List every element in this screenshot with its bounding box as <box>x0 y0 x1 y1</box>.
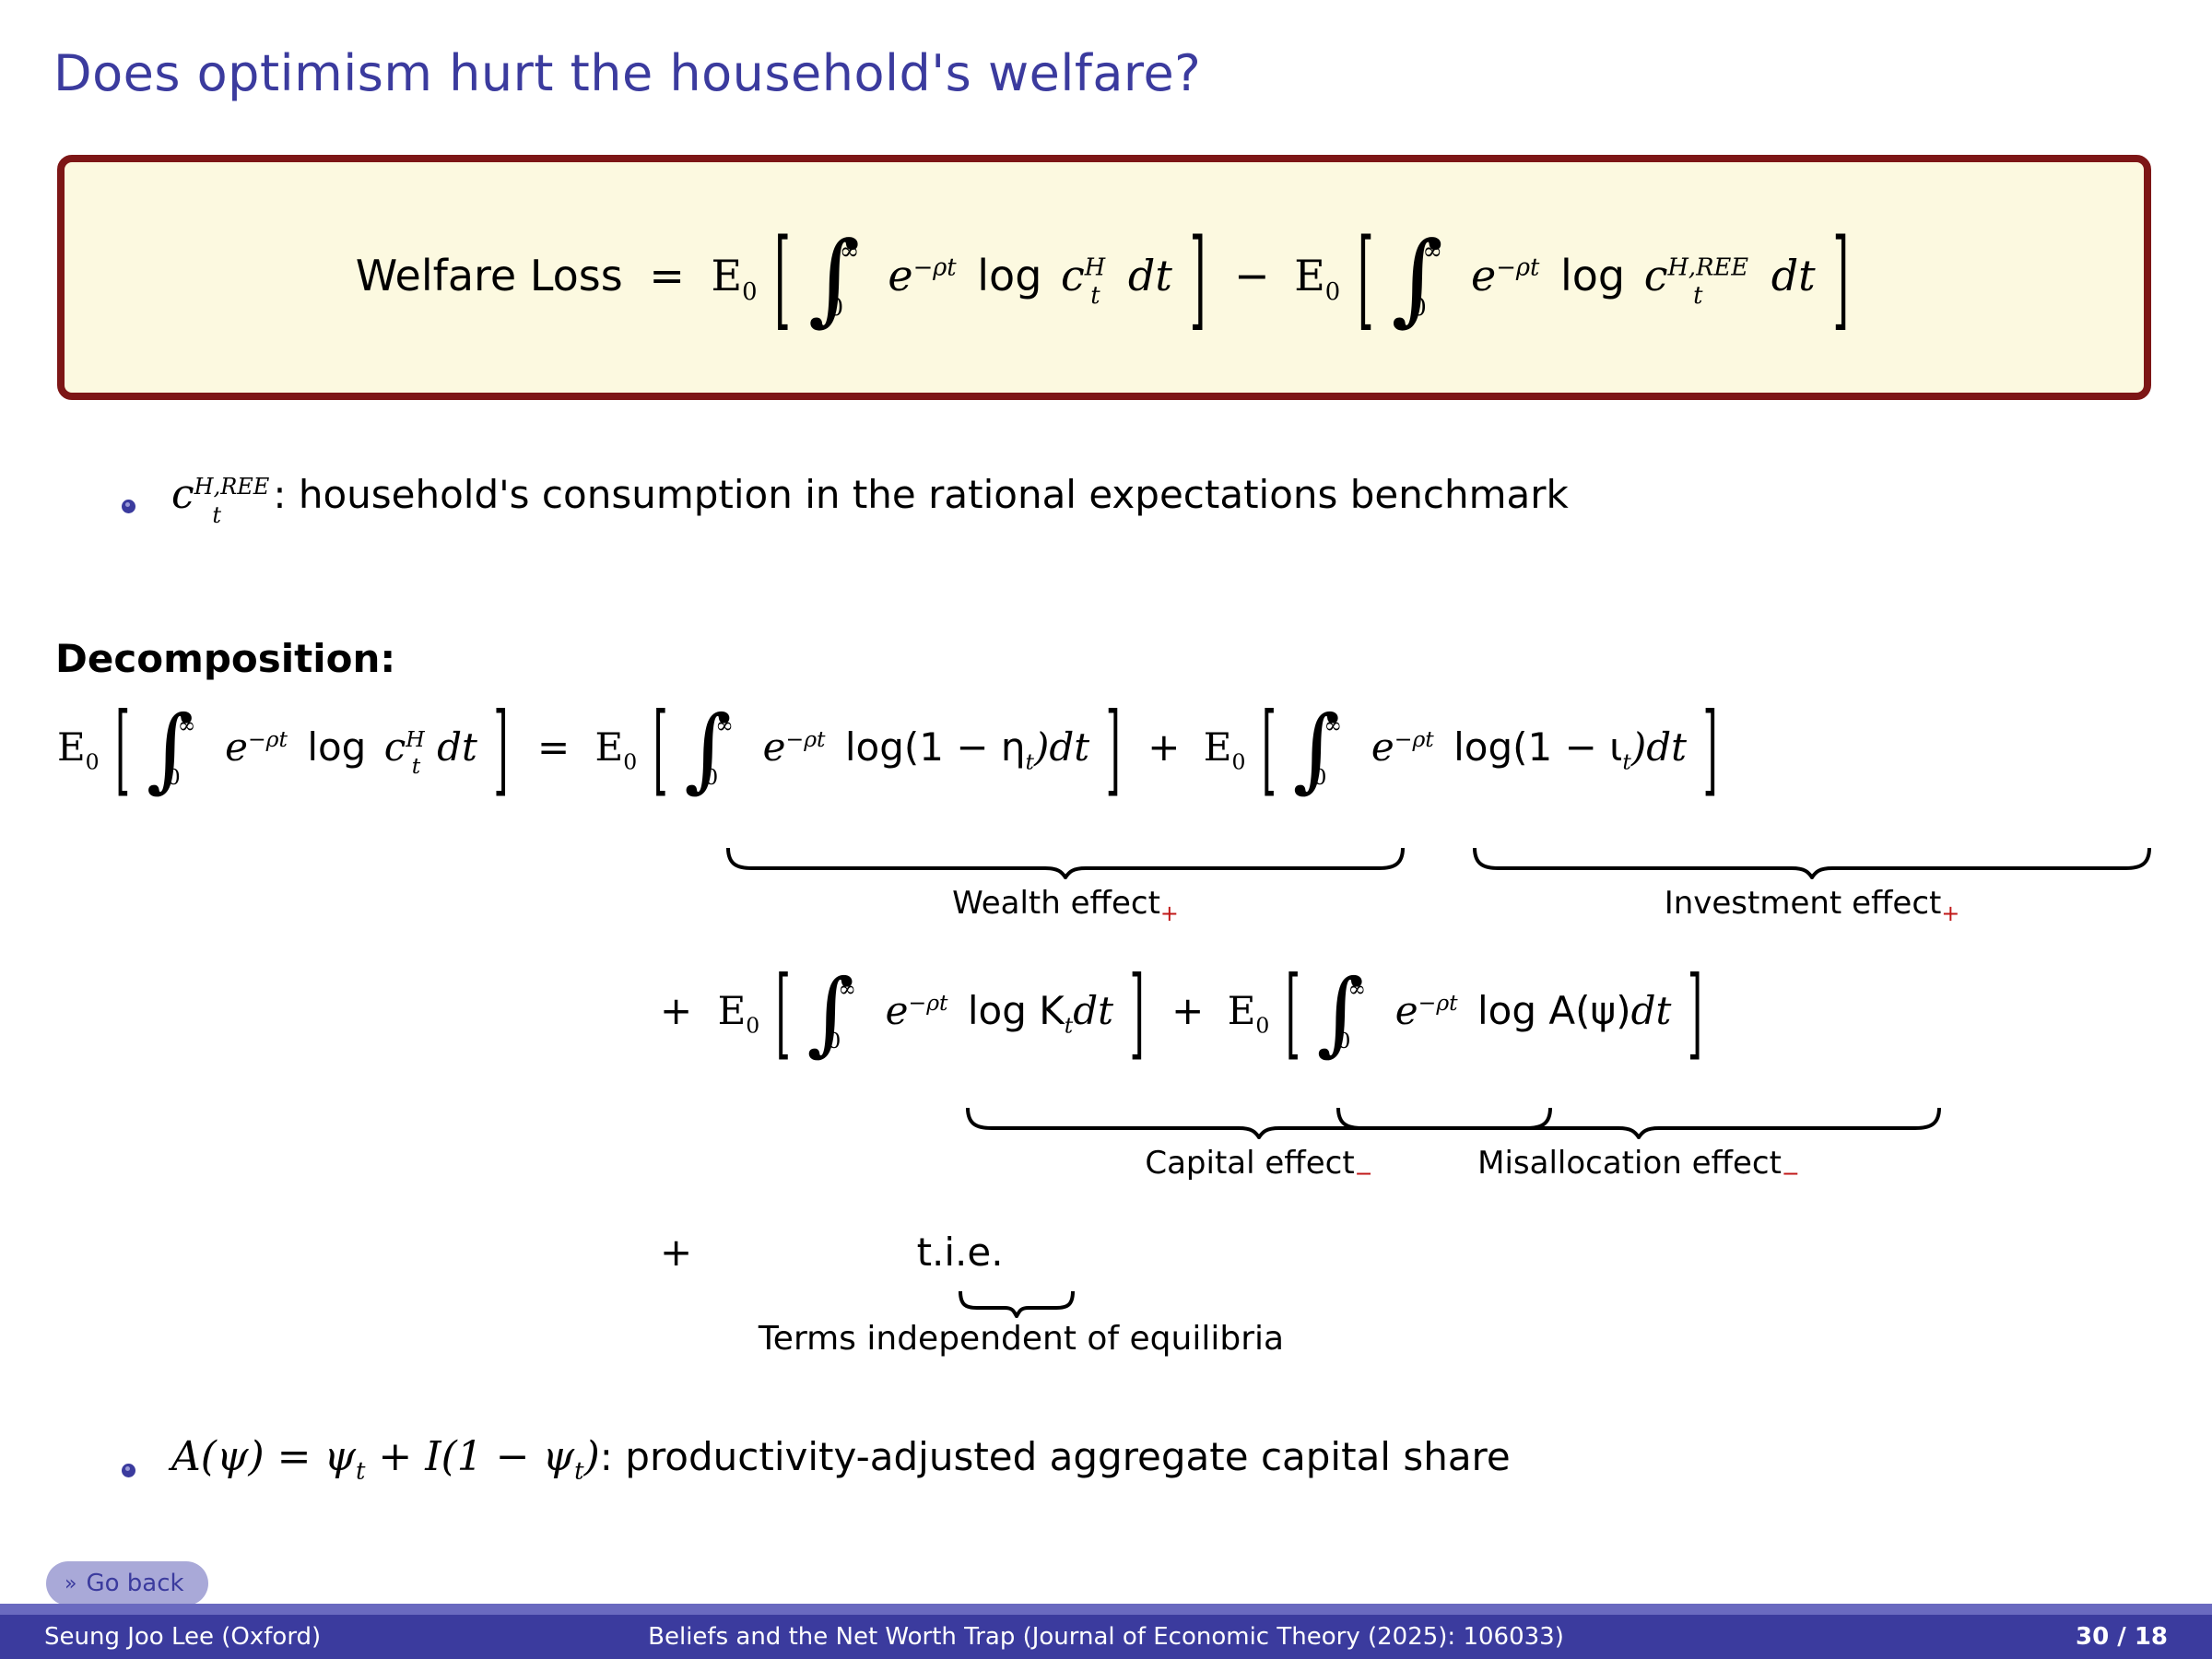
wealth-exp: −ρt <box>786 726 826 752</box>
misallocation-effect-brace <box>1335 1104 1943 1139</box>
decomp-bracket-close-lhs: ] <box>493 700 508 799</box>
go-back-label: Go back <box>86 1570 183 1597</box>
bullet-1: cH,REEt: household's consumption in the … <box>171 472 1569 517</box>
capital-expect-sub: 0 <box>746 1012 759 1038</box>
log-2: log <box>1560 251 1625 300</box>
misallocation-effect-label: Misallocation effect− <box>1335 1145 1943 1182</box>
investment-effect-label: Investment effect+ <box>1471 885 2153 922</box>
wealth-body: log(1 − η <box>845 724 1026 770</box>
investment-bracket-close: ] <box>1702 700 1717 799</box>
decomposition-row-2: + E0 [ ∫ ∞ 0 e−ρt log Ktdt ] + E0 [ ∫ ∞ … <box>660 992 1706 1033</box>
go-back-button[interactable]: » Go back <box>46 1561 208 1606</box>
investment-body-end: )dt <box>1631 724 1687 770</box>
footer-bar: Seung Joo Lee (Oxford) Beliefs and the N… <box>0 1615 2212 1659</box>
decomp-integral-lhs: ∫ ∞ 0 <box>147 731 213 770</box>
c-var-2: c <box>1644 251 1668 300</box>
wealth-effect-label: Wealth effect+ <box>724 885 1406 922</box>
investment-e: e <box>1371 724 1394 770</box>
misallocation-body: log A(ψ) <box>1477 988 1631 1033</box>
slide-root: Does optimism hurt the household's welfa… <box>0 0 2212 1659</box>
wealth-body-sub: t <box>1026 748 1034 774</box>
decomp-plus-4: + <box>660 1230 692 1275</box>
page-current: 30 <box>2076 1623 2109 1651</box>
misallocation-int-lower: 0 <box>1336 1030 1350 1053</box>
integral-upper-1: ∞ <box>840 241 859 265</box>
misallocation-expect-sub: 0 <box>1255 1012 1269 1038</box>
bracket-close-1: ] <box>1189 224 1206 332</box>
bullet-2-text: : productivity-adjusted aggregate capita… <box>600 1434 1511 1479</box>
investment-body-sub: t <box>1622 748 1630 774</box>
integrand-exp-2: −ρt <box>1496 254 1539 282</box>
misallocation-e: e <box>1395 988 1418 1033</box>
investment-body: log(1 − ι <box>1453 724 1622 770</box>
bracket-open-1: [ <box>774 224 791 332</box>
decomp-e-lhs: e <box>225 724 248 770</box>
footer-page-number: 30 / 18 <box>2076 1623 2168 1651</box>
investment-expect-sub: 0 <box>1231 748 1245 774</box>
capital-body-sub: t <box>1065 1012 1073 1038</box>
decomp-equals: = <box>537 724 570 770</box>
wealth-effect-sign: + <box>1160 900 1179 926</box>
minus-sign: − <box>1234 251 1270 300</box>
bracket-close-2: ] <box>1832 224 1849 332</box>
decomp-plus-1: + <box>1147 724 1180 770</box>
investment-effect-brace <box>1471 844 2153 879</box>
integral-lower-1: 0 <box>829 297 843 321</box>
investment-int-upper: ∞ <box>1324 715 1343 737</box>
welfare-loss-equals: = <box>649 251 685 300</box>
wealth-e: e <box>763 724 786 770</box>
wealth-effect-brace <box>724 844 1406 879</box>
misallocation-effect-sign: − <box>1782 1160 1800 1186</box>
bullet-2: A(ψ) = ψt + I(1 − ψt): productivity-adju… <box>171 1434 1511 1479</box>
footer-author: Seung Joo Lee (Oxford) <box>44 1623 321 1651</box>
welfare-loss-box: Welfare Loss = E0 [ ∫ ∞ 0 e−ρt log cHt d… <box>57 155 2151 400</box>
capital-body: log K <box>968 988 1065 1033</box>
bullet-icon-1 <box>122 500 135 513</box>
c-var-1: c <box>1061 251 1085 300</box>
misallocation-body-end: dt <box>1631 988 1672 1033</box>
investment-expect: E <box>1204 724 1232 770</box>
expect-sub-1: 0 <box>742 278 757 306</box>
investment-effect-sign: + <box>1941 900 1959 926</box>
expect-sub-2: 0 <box>1325 278 1340 306</box>
wealth-expect: E <box>595 724 624 770</box>
footer-paper-title: Beliefs and the Net Worth Trap (Journal … <box>648 1623 1564 1651</box>
log-1: log <box>977 251 1041 300</box>
c-sup-1: H <box>1085 254 1105 282</box>
integral-2: ∫ ∞ 0 <box>1391 258 1457 300</box>
decomp-c-sup-lhs: H <box>406 726 425 752</box>
capital-body-end: dt <box>1073 988 1113 1033</box>
expect-operator-2: E <box>1294 251 1325 300</box>
double-arrow-icon: » <box>65 1572 76 1595</box>
investment-exp: −ρt <box>1394 726 1434 752</box>
bullet-1-text: : household's consumption in the rationa… <box>273 472 1569 517</box>
decomp-c-lhs: c <box>384 724 406 770</box>
page-separator: / <box>2117 1623 2126 1651</box>
decomp-int-upper-lhs: ∞ <box>178 715 196 737</box>
integrand-e-1: e <box>888 251 912 300</box>
capital-integral: ∫ ∞ 0 <box>806 994 873 1033</box>
capital-bracket-close: ] <box>1129 964 1144 1063</box>
bullet-1-sup: H,REE <box>194 474 270 500</box>
capital-e: e <box>886 988 909 1033</box>
capital-int-lower: 0 <box>827 1030 841 1053</box>
capital-expect: E <box>718 988 747 1033</box>
investment-bracket-open: [ <box>1262 700 1277 799</box>
wealth-body-end: )dt <box>1034 724 1089 770</box>
decomp-plus-3: + <box>1171 988 1204 1033</box>
bullet-icon-2 <box>122 1464 135 1477</box>
page-title: Does optimism hurt the household's welfa… <box>53 44 1201 102</box>
tie-term: t.i.e. <box>917 1230 1004 1275</box>
wealth-expect-sub: 0 <box>623 748 637 774</box>
investment-integral: ∫ ∞ 0 <box>1293 731 1359 770</box>
capital-int-upper: ∞ <box>838 979 856 1001</box>
wealth-integral: ∫ ∞ 0 <box>684 731 750 770</box>
decomp-expect-lhs-sub: 0 <box>86 748 100 774</box>
decomp-log-lhs: log <box>307 724 366 770</box>
bullet-2-formula-mid: + I(1 − ψ <box>365 1433 574 1480</box>
bullet-1-symbol: c <box>171 471 194 518</box>
wealth-int-lower: 0 <box>704 767 718 789</box>
integral-lower-2: 0 <box>1411 297 1426 321</box>
decomposition-heading: Decomposition: <box>55 636 395 681</box>
welfare-loss-lhs: Welfare Loss <box>356 251 623 300</box>
c-sup-2: H,REE <box>1667 254 1748 282</box>
tie-label: Terms independent of equilibria <box>717 1320 1325 1358</box>
bullet-2-sub-2: t <box>574 1457 583 1485</box>
decomp-dt-lhs: dt <box>437 724 477 770</box>
wealth-bracket-close: ] <box>1105 700 1120 799</box>
capital-exp: −ρt <box>909 990 948 1016</box>
page-total: 18 <box>2135 1623 2168 1651</box>
decomp-exp-lhs: −ρt <box>248 726 288 752</box>
misallocation-integral: ∫ ∞ 0 <box>1316 994 1382 1033</box>
decomposition-row-1: E0 [ ∫ ∞ 0 e−ρt log cHt dt ] = E0 [ ∫ ∞ … <box>57 728 1722 770</box>
decomp-expect-lhs: E <box>57 724 86 770</box>
bullet-2-sub-1: t <box>356 1457 365 1485</box>
footer-accent-strip <box>0 1604 2212 1615</box>
misallocation-int-upper: ∞ <box>1347 979 1366 1001</box>
integral-upper-2: ∞ <box>1422 241 1441 265</box>
integrand-exp-1: −ρt <box>913 254 957 282</box>
dt-1: dt <box>1128 251 1172 300</box>
tie-brace <box>957 1288 1077 1318</box>
wealth-bracket-open: [ <box>653 700 668 799</box>
expect-operator-1: E <box>712 251 743 300</box>
misallocation-expect: E <box>1228 988 1256 1033</box>
welfare-loss-equation: Welfare Loss = E0 [ ∫ ∞ 0 e−ρt log cHt d… <box>356 254 1853 300</box>
decomp-int-lower-lhs: 0 <box>167 767 181 789</box>
misallocation-bracket-close: ] <box>1688 964 1702 1063</box>
decomposition-row-3: + t.i.e. <box>660 1233 1004 1272</box>
misallocation-exp: −ρt <box>1418 990 1458 1016</box>
capital-bracket-open: [ <box>776 964 791 1063</box>
decomp-bracket-open-lhs: [ <box>115 700 130 799</box>
integral-1: ∫ ∞ 0 <box>808 258 875 300</box>
decomp-plus-2: + <box>660 988 692 1033</box>
dt-2: dt <box>1771 251 1816 300</box>
investment-int-lower: 0 <box>1313 767 1327 789</box>
bracket-open-2: [ <box>1358 224 1374 332</box>
wealth-int-upper: ∞ <box>715 715 734 737</box>
integrand-e-2: e <box>1471 251 1496 300</box>
bullet-2-formula: A(ψ) = ψ <box>171 1433 356 1480</box>
bullet-2-formula-end: ) <box>584 1433 600 1480</box>
misallocation-bracket-open: [ <box>1286 964 1300 1063</box>
